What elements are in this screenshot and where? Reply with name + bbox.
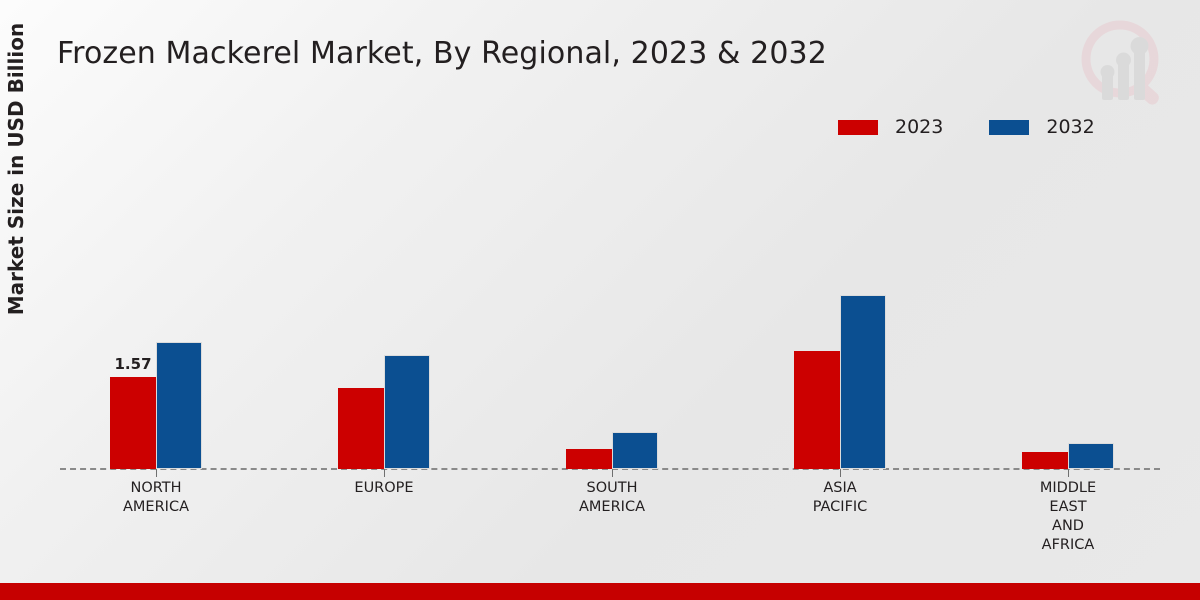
bar-2023-asia-pacific[interactable] [794, 351, 840, 469]
plot-area: 1.57NORTHAMERICAEUROPESOUTHAMERICAASIAPA… [0, 0, 1200, 600]
bar-2023-north-america[interactable] [110, 377, 156, 469]
chart-figure: Frozen Mackerel Market, By Regional, 202… [0, 0, 1200, 600]
x-axis-label-europe: EUROPE [289, 479, 479, 498]
x-axis-tick [156, 469, 157, 477]
bar-2023-middle-east-and-africa[interactable] [1022, 452, 1068, 469]
x-axis-label-asia-pacific: ASIAPACIFIC [745, 479, 935, 517]
bar-2032-north-america[interactable] [156, 342, 202, 469]
bar-2032-middle-east-and-africa[interactable] [1068, 443, 1114, 469]
bar-2032-asia-pacific[interactable] [840, 295, 886, 469]
bar-2023-europe[interactable] [338, 388, 384, 469]
x-axis-tick [612, 469, 613, 477]
x-axis-label-middle-east-and-africa: MIDDLEEASTANDAFRICA [973, 479, 1163, 555]
x-axis-label-north-america: NORTHAMERICA [61, 479, 251, 517]
bar-2032-europe[interactable] [384, 355, 430, 469]
x-axis-tick [384, 469, 385, 477]
x-axis-tick [1068, 469, 1069, 477]
bar-value-label: 1.57 [114, 355, 151, 373]
x-axis-tick [840, 469, 841, 477]
bar-2032-south-america[interactable] [612, 432, 658, 469]
x-axis-label-south-america: SOUTHAMERICA [517, 479, 707, 517]
bar-2023-south-america[interactable] [566, 449, 612, 469]
footer-band [0, 583, 1200, 600]
